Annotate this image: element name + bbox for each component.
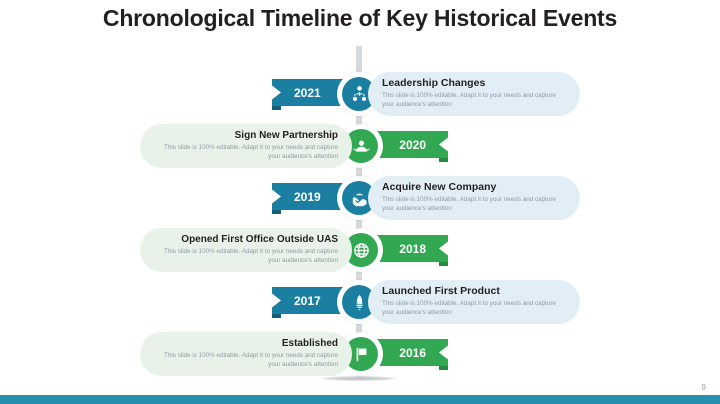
timeline-row[interactable]: 2019 Acquire New Company This slide is 1… [0,172,720,224]
event-panel: Leadership Changes This slide is 100% ed… [368,72,580,116]
slide-canvas: Chronological Timeline of Key Historical… [0,0,720,404]
event-heading: Sign New Partnership [154,129,338,142]
event-heading: Acquire New Company [382,181,566,194]
event-heading: Opened First Office Outside UAS [154,233,338,246]
year-label: 2016 [399,346,426,360]
ribbon-fold [439,262,448,266]
timeline-row[interactable]: 2020 Sign New Partnership This slide is … [0,120,720,172]
event-body: This slide is 100% editable. Adapt it to… [382,196,566,213]
timeline-row[interactable]: 2021 Leadership Changes This slide is 10… [0,68,720,120]
bottom-accent-bar [0,395,720,404]
timeline-row[interactable]: 2018 Opened First Office Outside UAS Thi… [0,224,720,276]
event-heading: Established [154,337,338,350]
event-body: This slide is 100% editable. Adapt it to… [382,300,566,317]
year-label: 2019 [294,190,321,204]
event-body: This slide is 100% editable. Adapt it to… [154,352,338,369]
year-label: 2020 [399,138,426,152]
event-panel: Sign New Partnership This slide is 100% … [140,124,352,168]
event-panel: Launched First Product This slide is 100… [368,280,580,324]
ribbon-fold [272,314,281,318]
ribbon-fold [439,158,448,162]
timeline-row[interactable]: 2016 Established This slide is 100% edit… [0,328,720,380]
event-body: This slide is 100% editable. Adapt it to… [154,144,338,161]
event-body: This slide is 100% editable. Adapt it to… [154,248,338,265]
ribbon-fold [272,210,281,214]
page-number: 9 [702,383,706,392]
event-panel: Opened First Office Outside UAS This sli… [140,228,352,272]
event-body: This slide is 100% editable. Adapt it to… [382,92,566,109]
event-panel: Acquire New Company This slide is 100% e… [368,176,580,220]
event-heading: Launched First Product [382,285,566,298]
ribbon-fold [439,366,448,370]
event-heading: Leadership Changes [382,77,566,90]
year-label: 2018 [399,242,426,256]
year-label: 2017 [294,294,321,308]
timeline-row[interactable]: 2017 Launched First Product This slide i… [0,276,720,328]
page-title: Chronological Timeline of Key Historical… [0,5,720,32]
year-label: 2021 [294,86,321,100]
ribbon-fold [272,106,281,110]
event-panel: Established This slide is 100% editable.… [140,332,352,376]
